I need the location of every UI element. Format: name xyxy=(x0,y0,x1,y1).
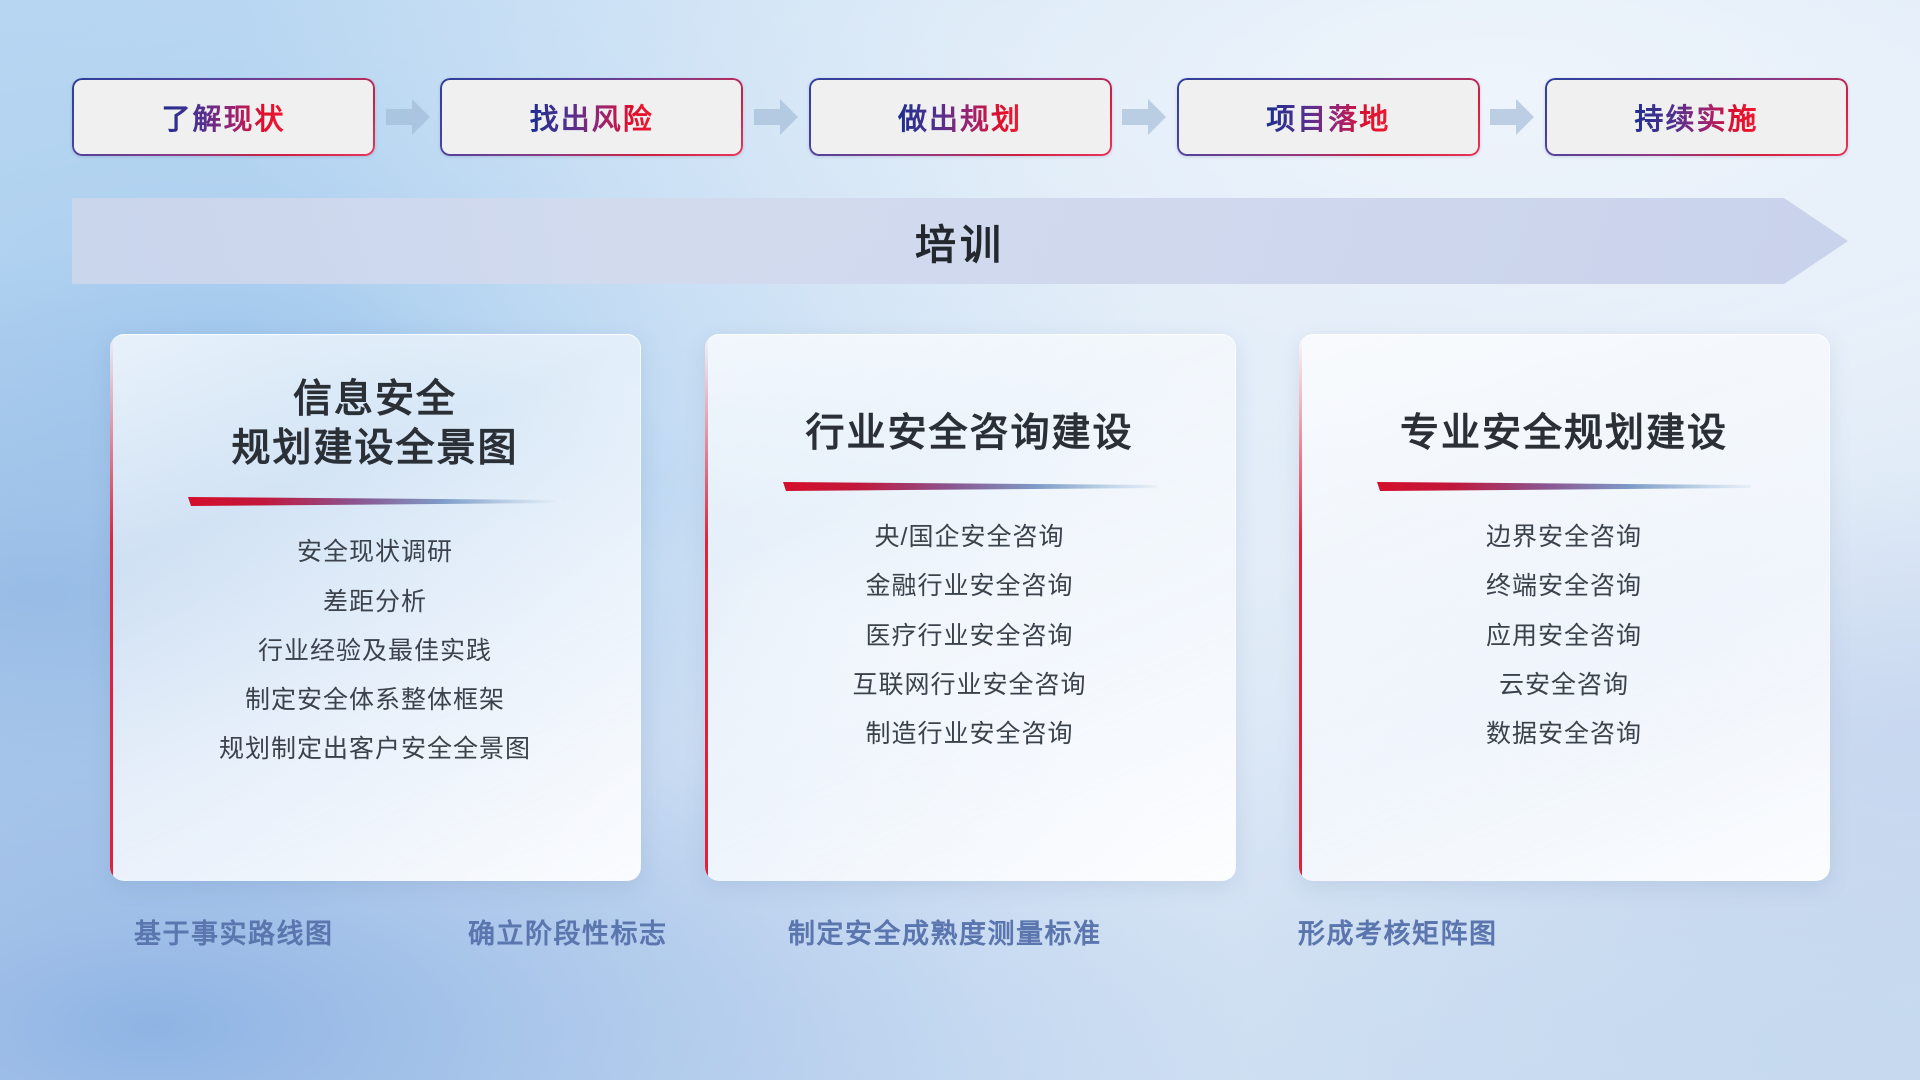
step-label-5: 持续实施 xyxy=(1634,96,1758,138)
card-list: 边界安全咨询 终端安全咨询 应用安全咨询 云安全咨询 数据安全咨询 xyxy=(1486,519,1642,752)
card-accent-rule xyxy=(1377,480,1751,493)
list-item: 互联网行业安全咨询 xyxy=(852,667,1086,703)
step-box-4[interactable]: 项目落地 xyxy=(1177,78,1480,156)
card-body: 专业安全规划建设 xyxy=(1299,335,1829,881)
card-title-line: 行业安全咨询建设 xyxy=(805,409,1133,458)
list-item: 边界安全咨询 xyxy=(1486,519,1642,555)
step-label-3: 做出规划 xyxy=(898,96,1022,138)
training-banner: 培训 xyxy=(72,198,1848,284)
card-industry-security-consulting[interactable]: 行业安全咨询建设 xyxy=(705,334,1236,881)
list-item: 医疗行业安全咨询 xyxy=(865,618,1073,654)
step-label-2: 找出风险 xyxy=(530,96,654,138)
slide-stage: 了解现状 找出风险 做出规划 项目落地 持续实施 培训 xyxy=(0,0,1920,1080)
list-item: 金融行业安全咨询 xyxy=(865,568,1073,604)
caption-fact-roadmap: 基于事实路线图 xyxy=(134,912,334,951)
card-body: 信息安全 规划建设全景图 xyxy=(110,335,640,881)
card-list: 央/国企安全咨询 金融行业安全咨询 医疗行业安全咨询 互联网行业安全咨询 制造行… xyxy=(852,519,1086,752)
card-title: 行业安全咨询建设 xyxy=(805,409,1133,458)
list-item: 应用安全咨询 xyxy=(1486,618,1642,654)
step-box-5[interactable]: 持续实施 xyxy=(1545,78,1848,156)
caption-maturity-standard: 制定安全成熟度测量标准 xyxy=(788,912,1102,951)
step-box-1[interactable]: 了解现状 xyxy=(72,78,375,156)
right-arrow-icon-3 xyxy=(1122,98,1166,136)
card-title-line: 信息安全 xyxy=(231,375,518,424)
step-label-1: 了解现状 xyxy=(161,96,285,138)
caption-stage-milestones: 确立阶段性标志 xyxy=(468,912,668,951)
step-box-2[interactable]: 找出风险 xyxy=(440,78,743,156)
card-title-line: 规划建设全景图 xyxy=(231,424,518,473)
card-title: 专业安全规划建设 xyxy=(1400,409,1728,458)
list-item: 制造行业安全咨询 xyxy=(865,716,1073,752)
list-item: 行业经验及最佳实践 xyxy=(258,633,492,669)
right-arrow-icon-4 xyxy=(1490,98,1534,136)
list-item: 制定安全体系整体框架 xyxy=(245,682,505,718)
step-box-3[interactable]: 做出规划 xyxy=(809,78,1112,156)
card-row: 信息安全 规划建设全景图 xyxy=(110,334,1830,880)
banner-title: 培训 xyxy=(72,198,1848,284)
card-professional-security-planning[interactable]: 专业安全规划建设 xyxy=(1299,334,1830,881)
card-information-security-panorama[interactable]: 信息安全 规划建设全景图 xyxy=(110,334,641,881)
card-body: 行业安全咨询建设 xyxy=(705,335,1235,881)
caption-row: 基于事实路线图 确立阶段性标志 制定安全成熟度测量标准 形成考核矩阵图 xyxy=(0,912,1920,960)
process-steps: 了解现状 找出风险 做出规划 项目落地 持续实施 xyxy=(72,78,1848,156)
list-item: 安全现状调研 xyxy=(297,534,453,570)
card-title-line: 专业安全规划建设 xyxy=(1400,409,1728,458)
right-arrow-icon-2 xyxy=(754,98,798,136)
list-item: 规划制定出客户安全全景图 xyxy=(219,731,531,767)
list-item: 数据安全咨询 xyxy=(1486,716,1642,752)
card-list: 安全现状调研 差距分析 行业经验及最佳实践 制定安全体系整体框架 规划制定出客户… xyxy=(219,534,531,767)
card-accent-rule xyxy=(783,480,1157,493)
caption-assessment-matrix: 形成考核矩阵图 xyxy=(1298,912,1498,951)
card-accent-rule xyxy=(188,495,562,508)
card-title: 信息安全 规划建设全景图 xyxy=(231,375,518,473)
right-arrow-icon-1 xyxy=(386,98,430,136)
list-item: 云安全咨询 xyxy=(1499,667,1629,703)
list-item: 终端安全咨询 xyxy=(1486,568,1642,604)
step-label-4: 项目落地 xyxy=(1266,96,1390,138)
list-item: 差距分析 xyxy=(323,584,427,620)
list-item: 央/国企安全咨询 xyxy=(875,519,1065,555)
